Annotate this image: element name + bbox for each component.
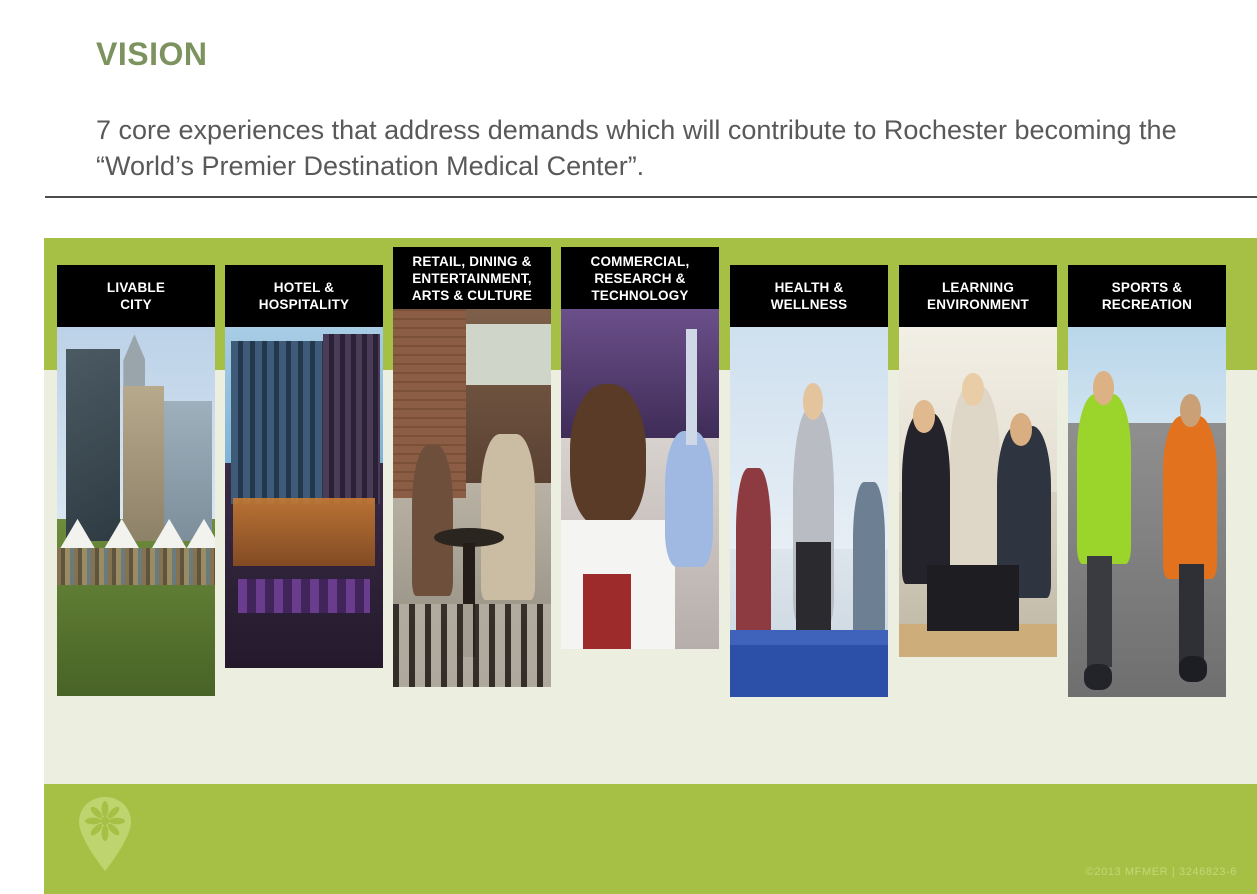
- photo-person: [570, 384, 646, 527]
- photo-head: [1093, 371, 1114, 404]
- column-header-retail-dining-entertainment-arts-culture: RETAIL, DINING & ENTERTAINMENT, ARTS & C…: [393, 247, 551, 309]
- experience-column-sports-recreation[interactable]: SPORTS & RECREATION: [1068, 247, 1226, 697]
- column-photo-sports-recreation: [1068, 327, 1226, 697]
- experience-column-hotel-hospitality[interactable]: HOTEL & HOSPITALITY: [225, 247, 383, 668]
- photo-glove: [665, 431, 712, 567]
- photo-yoga-mat: [730, 645, 888, 697]
- experience-column-health-wellness[interactable]: HEALTH & WELLNESS: [730, 247, 888, 697]
- column-photo-livable-city: [57, 327, 215, 696]
- column-label-line: HEALTH &: [775, 280, 844, 295]
- title-divider: [45, 196, 1257, 198]
- column-label-line: CITY: [120, 297, 152, 312]
- photo-head: [913, 400, 935, 433]
- photo-person: [736, 468, 771, 646]
- column-header-commercial-research-technology: COMMERCIAL, RESEARCH & TECHNOLOGY: [561, 247, 719, 309]
- column-photo-learning-environment: [899, 327, 1057, 657]
- footer-bar: ©2013 MFMER | 3246823-6: [44, 784, 1257, 894]
- photo-person: [853, 482, 885, 645]
- column-label-line: TECHNOLOGY: [591, 288, 688, 303]
- photo-crowd: [57, 548, 215, 585]
- pin-icon: [74, 794, 136, 874]
- mayo-clinic-pin-logo: [74, 794, 136, 874]
- photo-shoe: [1179, 656, 1207, 682]
- photo-pipette: [686, 329, 697, 445]
- column-header-learning-environment: LEARNING ENVIRONMENT: [899, 265, 1057, 327]
- photo-glass-facade: [231, 341, 326, 505]
- photo-laptop: [927, 565, 1019, 631]
- photo-head: [803, 383, 824, 420]
- column-label-line: ENTERTAINMENT,: [412, 271, 532, 286]
- photo-warm-lighting: [233, 498, 375, 566]
- photo-glass-facade: [323, 334, 380, 505]
- experience-column-retail-dining-entertainment-arts-culture[interactable]: RETAIL, DINING & ENTERTAINMENT, ARTS & C…: [393, 247, 551, 687]
- column-photo-health-wellness: [730, 327, 888, 697]
- column-label-line: RESEARCH &: [594, 271, 685, 286]
- column-header-health-wellness: HEALTH & WELLNESS: [730, 265, 888, 327]
- column-photo-commercial-research-technology: [561, 309, 719, 649]
- photo-legs: [1087, 556, 1112, 667]
- photo-person: [412, 445, 453, 596]
- page-title: VISION: [96, 36, 207, 73]
- photo-runner: [1163, 416, 1217, 579]
- photo-awning: [466, 324, 551, 384]
- vision-panel: LIVABLE CITY HOTEL: [44, 238, 1257, 784]
- experience-columns: LIVABLE CITY HOTEL: [44, 238, 1257, 784]
- column-label-line: ARTS & CULTURE: [412, 288, 532, 303]
- photo-building: [123, 386, 164, 541]
- photo-building: [164, 401, 211, 541]
- column-label-line: RETAIL, DINING &: [412, 254, 531, 269]
- photo-head: [1010, 413, 1032, 446]
- photo-ironwork: [393, 604, 551, 687]
- page-subtitle: 7 core experiences that address demands …: [96, 112, 1216, 184]
- column-photo-hotel-hospitality: [225, 327, 383, 668]
- column-label-line: HOSPITALITY: [259, 297, 349, 312]
- column-label-line: ENVIRONMENT: [927, 297, 1029, 312]
- photo-runner: [1077, 394, 1131, 564]
- column-header-hotel-hospitality: HOTEL & HOSPITALITY: [225, 265, 383, 327]
- photo-shirt: [583, 574, 630, 649]
- photo-person: [950, 386, 1001, 577]
- photo-person: [481, 434, 535, 600]
- photo-head: [1180, 394, 1201, 427]
- column-header-livable-city: LIVABLE CITY: [57, 265, 215, 327]
- experience-column-livable-city[interactable]: LIVABLE CITY: [57, 247, 215, 696]
- photo-street-level: [238, 579, 371, 613]
- experience-column-commercial-research-technology[interactable]: COMMERCIAL, RESEARCH & TECHNOLOGY: [561, 247, 719, 649]
- copyright-credit: ©2013 MFMER | 3246823-6: [1086, 866, 1237, 878]
- column-label-line: HOTEL &: [274, 280, 334, 295]
- photo-person: [902, 413, 949, 585]
- photo-legs: [1179, 564, 1204, 668]
- photo-building: [66, 349, 120, 541]
- photo-shoe: [1084, 664, 1112, 690]
- column-label-line: SPORTS &: [1112, 280, 1183, 295]
- column-label-line: LEARNING: [942, 280, 1014, 295]
- column-header-sports-recreation: SPORTS & RECREATION: [1068, 265, 1226, 327]
- column-label-line: RECREATION: [1102, 297, 1192, 312]
- experience-column-learning-environment[interactable]: LEARNING ENVIRONMENT: [899, 247, 1057, 657]
- column-label-line: WELLNESS: [771, 297, 848, 312]
- column-photo-retail-dining-entertainment-arts-culture: [393, 309, 551, 687]
- column-label-line: COMMERCIAL,: [591, 254, 690, 269]
- column-label-line: LIVABLE: [107, 280, 165, 295]
